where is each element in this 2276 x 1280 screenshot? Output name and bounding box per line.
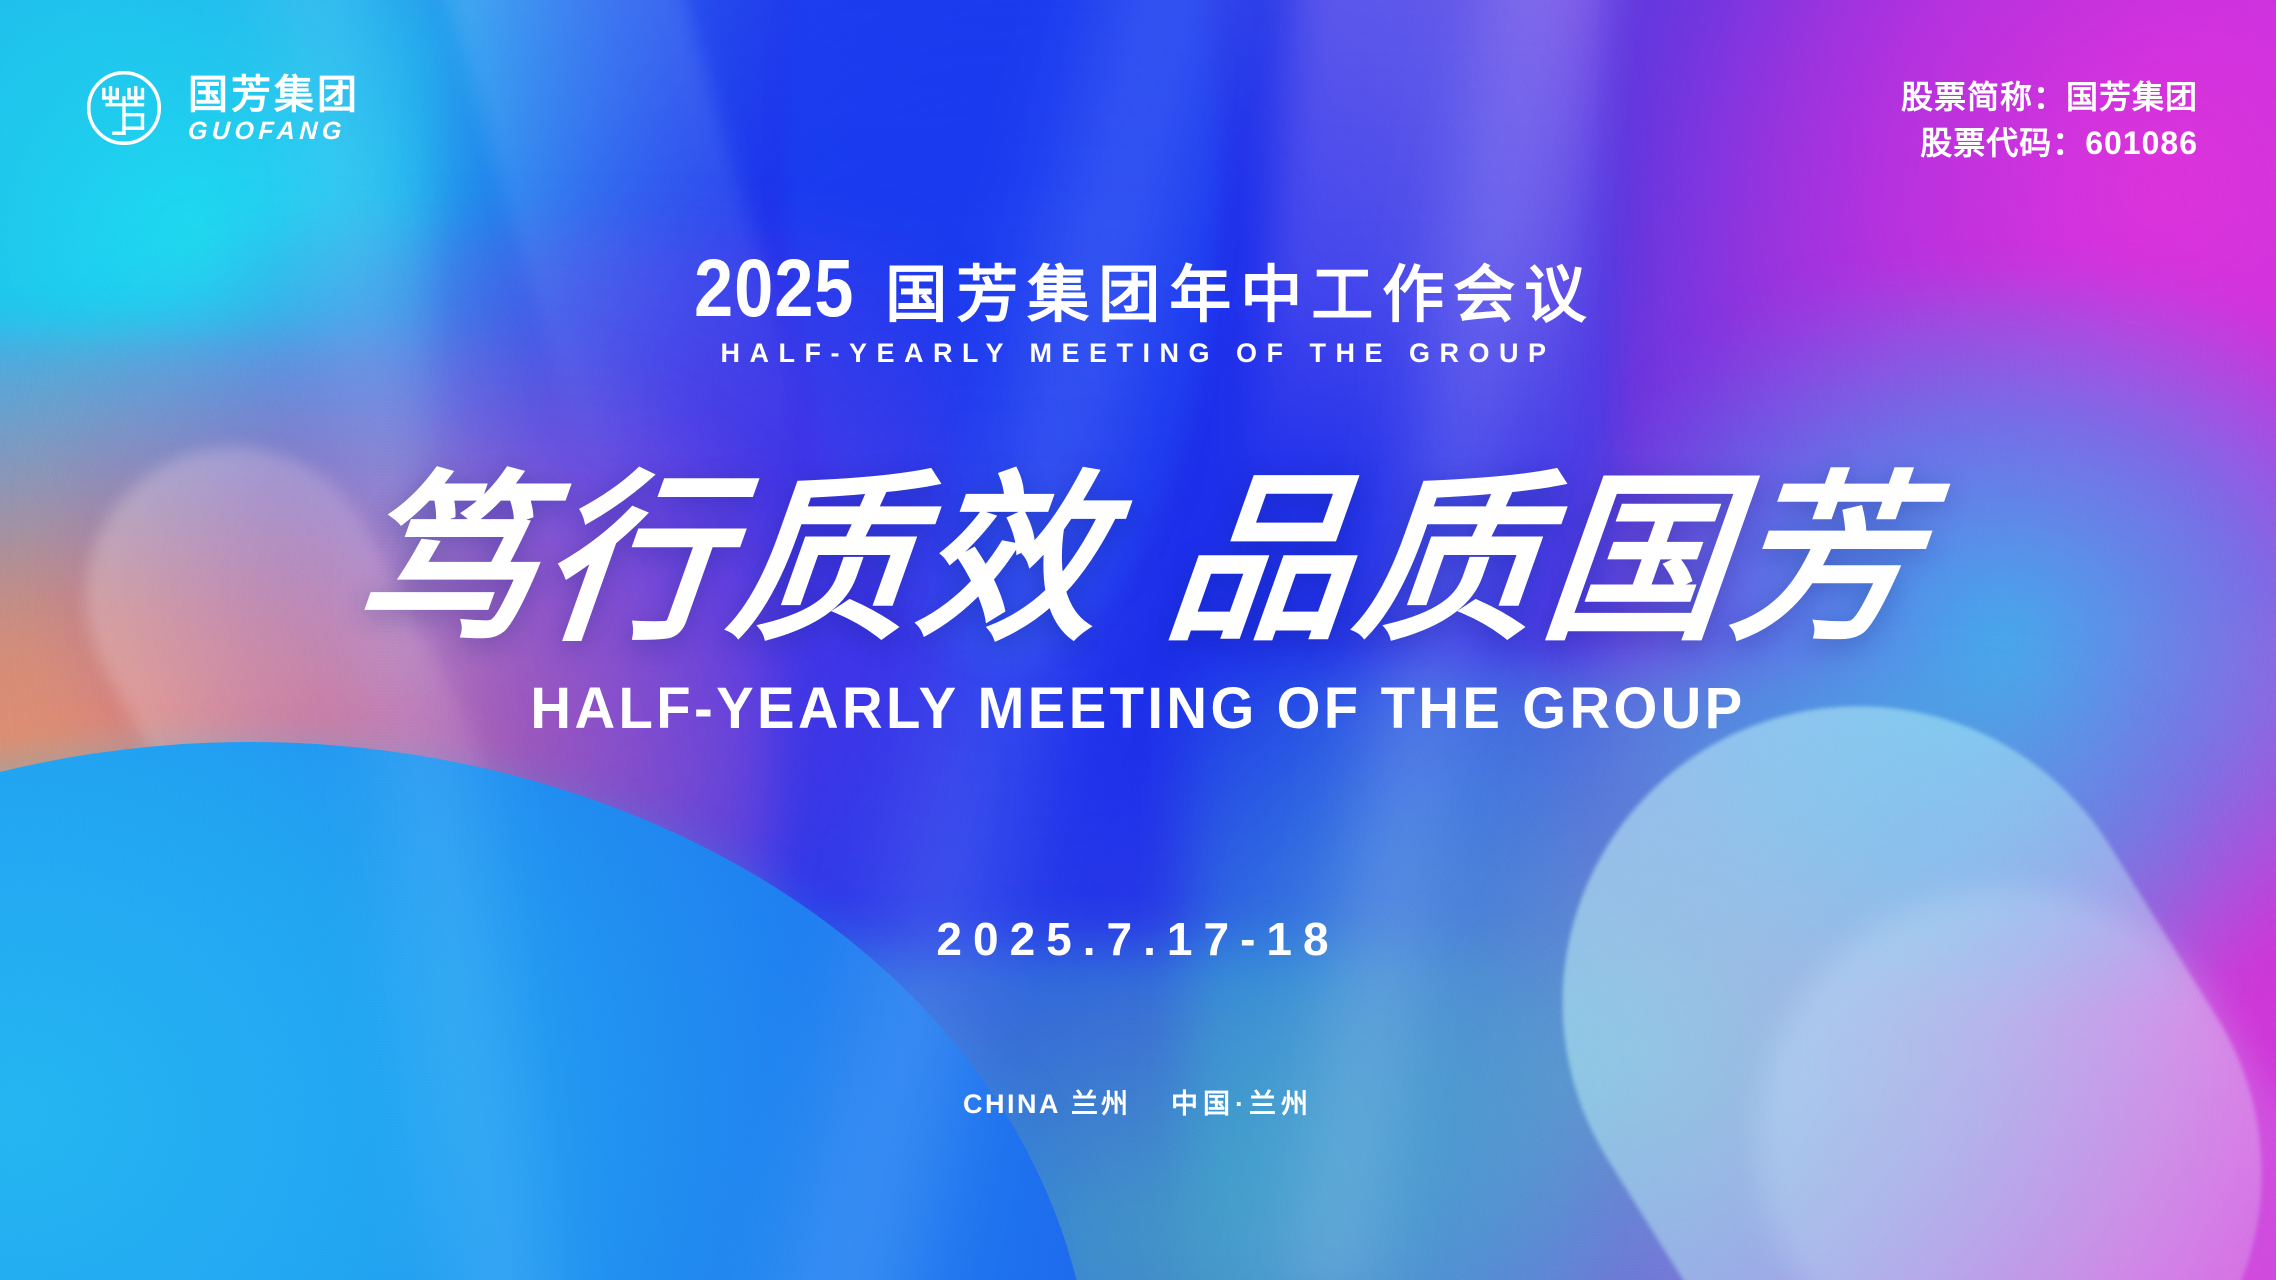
stock-name-line: 股票简称：国芳集团: [1901, 74, 2198, 120]
event-location: CHINA 兰州 中国·兰州: [0, 1082, 2276, 1121]
event-title-en: HALF-YEARLY MEETING OF THE GROUP: [0, 340, 2276, 367]
hero-headline: 笃行质效 品质国芳: [0, 468, 2276, 654]
event-location-en: CHINA 兰州: [963, 1082, 1131, 1121]
event-year: 2025: [694, 248, 854, 330]
conference-banner: 国芳集团 GUOFANG 股票简称：国芳集团 股票代码：601086 2025 …: [0, 0, 2276, 1280]
brand-lockup: 国芳集团 GUOFANG: [82, 66, 360, 150]
banner-content: 国芳集团 GUOFANG 股票简称：国芳集团 股票代码：601086 2025 …: [0, 0, 2276, 1280]
stock-code-line: 股票代码：601086: [1901, 120, 2198, 166]
hero-subtitle-en: HALF-YEARLY MEETING OF THE GROUP: [34, 680, 2242, 738]
brand-text: 国芳集团 GUOFANG: [188, 72, 360, 144]
hero-phrase-1: 笃行质效: [345, 468, 1117, 654]
event-location-row: CHINA 兰州 中国·兰州: [963, 1082, 1313, 1121]
event-title-cn: 国芳集团年中工作会议: [885, 265, 1595, 327]
stock-info: 股票简称：国芳集团 股票代码：601086: [1901, 74, 2198, 167]
hero-block: 笃行质效 品质国芳 HALF-YEARLY MEETING OF THE GRO…: [0, 468, 2276, 738]
guofang-circle-seal-icon: [82, 66, 166, 150]
brand-name-cn: 国芳集团: [188, 74, 360, 117]
event-location-country-en: CHINA: [963, 1089, 1061, 1119]
event-date: 2025.7.17-18: [0, 916, 2276, 962]
event-location-city-cn: 兰州: [1071, 1089, 1131, 1119]
brand-name-en: GUOFANG: [187, 119, 360, 144]
event-location-cn: 中国·兰州: [1171, 1082, 1313, 1121]
event-title-row: 2025 国芳集团年中工作会议: [681, 248, 1595, 330]
hero-phrase-2: 品质国芳: [1160, 468, 1932, 654]
event-title-block: 2025 国芳集团年中工作会议 HALF-YEARLY MEETING OF T…: [0, 248, 2276, 367]
